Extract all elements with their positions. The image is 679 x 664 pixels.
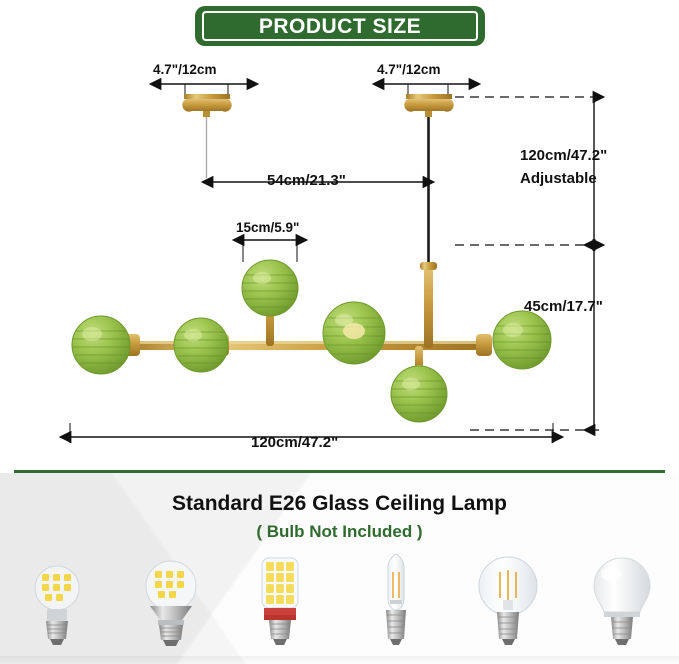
bulb-row	[0, 554, 679, 654]
bulb-reflection	[0, 656, 679, 664]
glass-globe-6	[493, 311, 551, 369]
glass-globe-3	[242, 260, 298, 316]
bulb-led-corn-bulb-small	[35, 566, 79, 645]
canopy-left-dimension-label: 4.7"/12cm	[153, 62, 216, 77]
glass-globe-1	[72, 316, 130, 374]
glass-globe-4	[323, 302, 385, 364]
product-size-infographic: PRODUCT SIZE	[0, 0, 679, 664]
section-divider	[14, 470, 665, 473]
bulb-led-a19-bulb	[594, 558, 650, 645]
bulb-led-corn-tube-bulb	[262, 558, 298, 645]
glass-globe-2	[174, 318, 228, 372]
globe-diameter-label: 15cm/5.9"	[236, 220, 299, 235]
chandelier-vertical-stem	[420, 262, 437, 348]
glass-globe-5	[391, 366, 447, 422]
canopy-left	[182, 94, 231, 117]
bulb-filament-candle-bulb	[386, 554, 406, 645]
bulb-section-title: Standard E26 Glass Ceiling Lamp	[0, 492, 679, 516]
canopy-right-dimension-label: 4.7"/12cm	[377, 62, 440, 77]
bulb-filament-globe-bulb	[479, 557, 537, 645]
arm-span-label: 54cm/21.3"	[267, 172, 346, 189]
lower-height-label: 45cm/17.7"	[524, 298, 603, 315]
bulb-section-subtitle: ( Bulb Not Included )	[0, 522, 679, 542]
adjustable-drop-label-line2: Adjustable	[520, 170, 597, 187]
total-width-label: 120cm/47.2"	[251, 434, 338, 451]
bulb-led-corn-bulb-silver	[146, 561, 196, 646]
canopy-right	[404, 94, 453, 117]
globe-diameter-dimension	[243, 240, 297, 262]
bulb-compatibility-section: Standard E26 Glass Ceiling Lamp ( Bulb N…	[0, 470, 679, 664]
adjustable-drop-label-line1: 120cm/47.2"	[520, 147, 607, 164]
chandelier-dimension-drawing	[0, 0, 679, 470]
